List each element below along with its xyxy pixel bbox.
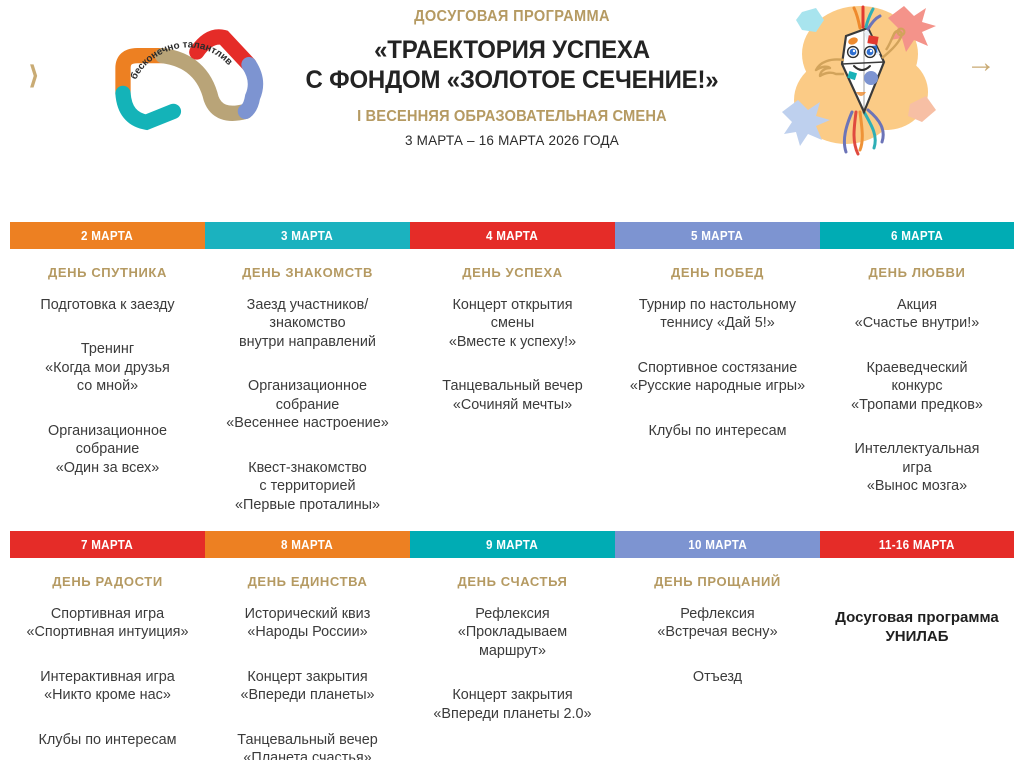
schedule-event: Концерт закрытия «Впереди планеты 2.0» xyxy=(418,686,607,723)
date-header-cell[interactable]: 10 МАРТА xyxy=(615,531,820,558)
date-header-cell[interactable]: 3 МАРТА xyxy=(205,222,410,249)
day-theme-label: ДЕНЬ ПОБЕД xyxy=(623,265,812,280)
schedule-day-cell: ДЕНЬ ЕДИНСТВАИсторический квиз «Народы Р… xyxy=(205,558,410,760)
day-theme-label: ДЕНЬ УСПЕХА xyxy=(418,265,607,280)
schedule-event: Квест-знакомство с территорией «Первые п… xyxy=(213,459,402,514)
schedule-table-row-1: 2 МАРТА3 МАРТА4 МАРТА5 МАРТА6 МАРТА ДЕНЬ… xyxy=(10,222,1014,524)
date-header-label: 6 МАРТА xyxy=(891,229,943,243)
date-header-label: 2 МАРТА xyxy=(81,229,133,243)
schedule-event: Концерт открытия смены «Вместе к успеху!… xyxy=(418,296,607,351)
date-header-label: 3 МАРТА xyxy=(281,229,333,243)
schedule-event: Досуговая программа УНИЛАБ xyxy=(828,608,1006,646)
schedule-event: Танцевальный вечер «Планета счастья» xyxy=(213,731,402,760)
schedule-table-row-2: 7 МАРТА8 МАРТА9 МАРТА10 МАРТА11-16 МАРТА… xyxy=(10,531,1014,760)
foundation-logo: бесконечно талантливы xyxy=(96,24,276,134)
schedule-day-cell: Досуговая программа УНИЛАБ xyxy=(820,558,1014,760)
schedule-event: Акция «Счастье внутри!» xyxy=(828,296,1006,333)
date-header-cell[interactable]: 8 МАРТА xyxy=(205,531,410,558)
date-header-cell[interactable]: 7 МАРТА xyxy=(10,531,205,558)
arrow-right-icon: → xyxy=(966,48,996,78)
poster-page: ⟩ → бесконечно талантливы xyxy=(0,0,1024,760)
kite-mascot-icon xyxy=(768,0,958,162)
schedule-day-cell: ДЕНЬ ПОБЕДТурнир по настольному теннису … xyxy=(615,249,820,524)
poster-header: ⟩ → бесконечно талантливы xyxy=(0,0,1024,200)
title-block: ДОСУГОВАЯ ПРОГРАММА «ТРАЕКТОРИЯ УСПЕХА С… xyxy=(262,4,762,148)
schedule-event: Рефлексия «Прокладываем маршрут» xyxy=(418,605,607,660)
schedule-day-cell: ДЕНЬ ПРОЩАНИЙРефлексия «Встречая весну»О… xyxy=(615,558,820,760)
program-dates: 3 МАРТА – 16 МАРТА 2026 ГОДА xyxy=(262,133,762,148)
day-theme-label: ДЕНЬ ЕДИНСТВА xyxy=(213,574,402,589)
date-header-row: 7 МАРТА8 МАРТА9 МАРТА10 МАРТА11-16 МАРТА xyxy=(10,531,1014,558)
schedule-body-row: ДЕНЬ СПУТНИКАПодготовка к заездуТренинг … xyxy=(10,249,1014,524)
day-theme-label: ДЕНЬ РАДОСТИ xyxy=(18,574,197,589)
program-kicker: ДОСУГОВАЯ ПРОГРАММА xyxy=(277,8,747,26)
schedule-event: Турнир по настольному теннису «Дай 5!» xyxy=(623,296,812,333)
date-header-cell[interactable]: 11-16 МАРТА xyxy=(820,531,1014,558)
date-header-cell[interactable]: 5 МАРТА xyxy=(615,222,820,249)
schedule-event: Организационное собрание «Один за всех» xyxy=(18,422,197,477)
day-theme-label: ДЕНЬ СПУТНИКА xyxy=(18,265,197,280)
schedule-body-row: ДЕНЬ РАДОСТИСпортивная игра «Спортивная … xyxy=(10,558,1014,760)
schedule-event: Рефлексия «Встречая весну» xyxy=(623,605,812,642)
page-title: «ТРАЕКТОРИЯ УСПЕХА С ФОНДОМ «ЗОЛОТОЕ СЕЧ… xyxy=(272,36,752,95)
triple-chevron-right-icon: ⟩ xyxy=(28,62,37,88)
date-header-cell[interactable]: 4 МАРТА xyxy=(410,222,615,249)
date-header-label: 4 МАРТА xyxy=(486,229,538,243)
schedule-event: Исторический квиз «Народы России» xyxy=(213,605,402,642)
schedule-event: Тренинг «Когда мои друзья со мной» xyxy=(18,340,197,395)
schedule-day-cell: ДЕНЬ ЛЮБВИАкция «Счастье внутри!»Краевед… xyxy=(820,249,1014,524)
schedule-event: Концерт закрытия «Впереди планеты» xyxy=(213,668,402,705)
schedule-day-cell: ДЕНЬ СПУТНИКАПодготовка к заездуТренинг … xyxy=(10,249,205,524)
schedule-day-cell: ДЕНЬ ЗНАКОМСТВЗаезд участников/ знакомст… xyxy=(205,249,410,524)
schedule-event: Подготовка к заезду xyxy=(18,296,197,314)
schedule-event: Клубы по интересам xyxy=(623,422,812,440)
date-header-label: 5 МАРТА xyxy=(691,229,743,243)
schedule-event: Краеведческий конкурс «Тропами предков» xyxy=(828,359,1006,414)
day-theme-label: ДЕНЬ ПРОЩАНИЙ xyxy=(623,574,812,589)
date-header-cell[interactable]: 2 МАРТА xyxy=(10,222,205,249)
date-header-cell[interactable]: 6 МАРТА xyxy=(820,222,1014,249)
page-title-line1: «ТРАЕКТОРИЯ УСПЕХА xyxy=(272,36,752,66)
date-header-label: 9 МАРТА xyxy=(486,538,538,552)
schedule-day-cell: ДЕНЬ УСПЕХАКонцерт открытия смены «Вмест… xyxy=(410,249,615,524)
date-header-label: 10 МАРТА xyxy=(688,538,747,552)
schedule-event: Клубы по интересам xyxy=(18,731,197,749)
schedule-event: Танцевальный вечер «Сочиняй мечты» xyxy=(418,377,607,414)
day-theme-label: ДЕНЬ ЗНАКОМСТВ xyxy=(213,265,402,280)
schedule-event: Интеллектуальная игра «Вынос мозга» xyxy=(828,440,1006,495)
date-header-label: 8 МАРТА xyxy=(281,538,333,552)
page-title-line2: С ФОНДОМ «ЗОЛОТОЕ СЕЧЕНИЕ!» xyxy=(272,66,752,96)
program-subtitle: I ВЕСЕННЯЯ ОБРАЗОВАТЕЛЬНАЯ СМЕНА xyxy=(275,108,750,126)
date-header-row: 2 МАРТА3 МАРТА4 МАРТА5 МАРТА6 МАРТА xyxy=(10,222,1014,249)
schedule-event: Спортивное состязание «Русские народные … xyxy=(623,359,812,396)
date-header-label: 11-16 МАРТА xyxy=(879,538,955,552)
day-theme-label: ДЕНЬ СЧАСТЬЯ xyxy=(418,574,607,589)
schedule-event: Заезд участников/ знакомство внутри напр… xyxy=(213,296,402,351)
schedule-event: Организационное собрание «Весеннее настр… xyxy=(213,377,402,432)
schedule-event: Спортивная игра «Спортивная интуиция» xyxy=(18,605,197,642)
schedule-day-cell: ДЕНЬ РАДОСТИСпортивная игра «Спортивная … xyxy=(10,558,205,760)
logo-infinity-icon: бесконечно талантливы xyxy=(96,24,276,134)
date-header-cell[interactable]: 9 МАРТА xyxy=(410,531,615,558)
schedule-event: Интерактивная игра «Никто кроме нас» xyxy=(18,668,197,705)
schedule-event: Отъезд xyxy=(623,668,812,686)
day-theme-label: ДЕНЬ ЛЮБВИ xyxy=(828,265,1006,280)
date-header-label: 7 МАРТА xyxy=(81,538,133,552)
schedule-day-cell: ДЕНЬ СЧАСТЬЯРефлексия «Прокладываем марш… xyxy=(410,558,615,760)
